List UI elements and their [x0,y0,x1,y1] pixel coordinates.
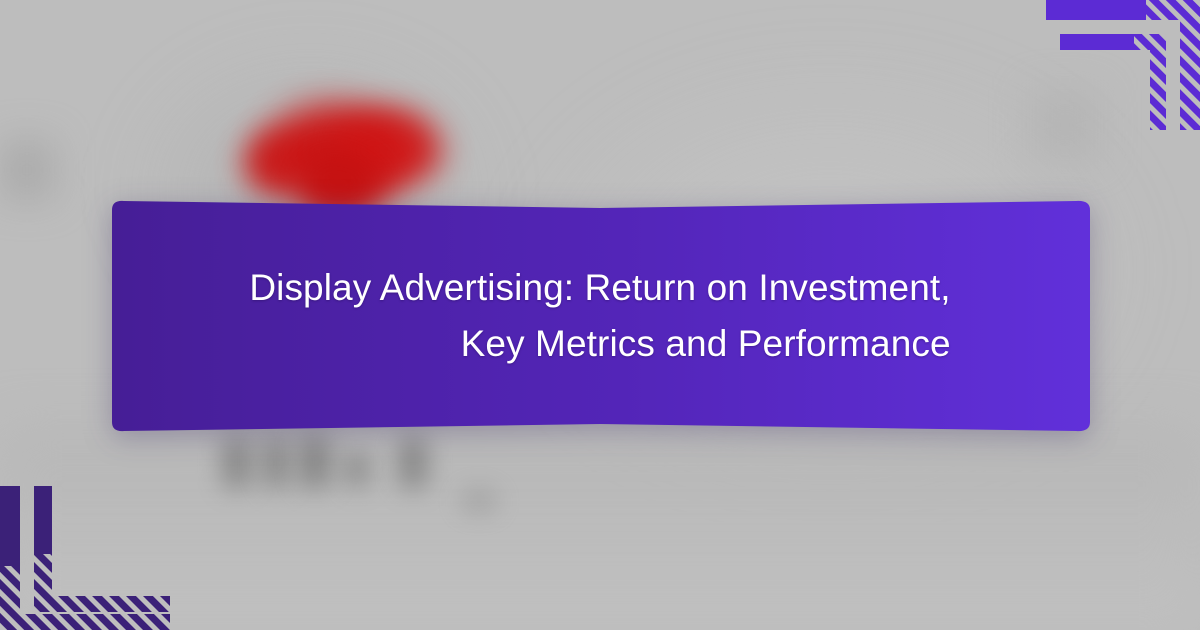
background-blurred-text-glyph [400,438,426,488]
background-blurred-text-glyph [264,438,288,488]
background-blurred-text-glyph [346,452,368,486]
social-card-canvas: Display Advertising: Return on Investmen… [0,0,1200,630]
background-blurred-text-glyph [462,492,496,510]
title-banner: Display Advertising: Return on Investmen… [98,198,1102,434]
page-title-line-1: Display Advertising: Return on Investmen… [249,260,950,316]
page-title-line-2: Key Metrics and Performance [249,316,950,372]
background-smudge-left [0,140,54,200]
banner-text-area: Display Advertising: Return on Investmen… [98,198,1102,434]
background-smudge-right [1030,90,1100,160]
background-blurred-text-glyph [300,436,330,488]
page-title: Display Advertising: Return on Investmen… [249,260,950,372]
background-blurred-text-glyph [224,438,250,488]
background-shade-bottom [0,430,1200,630]
